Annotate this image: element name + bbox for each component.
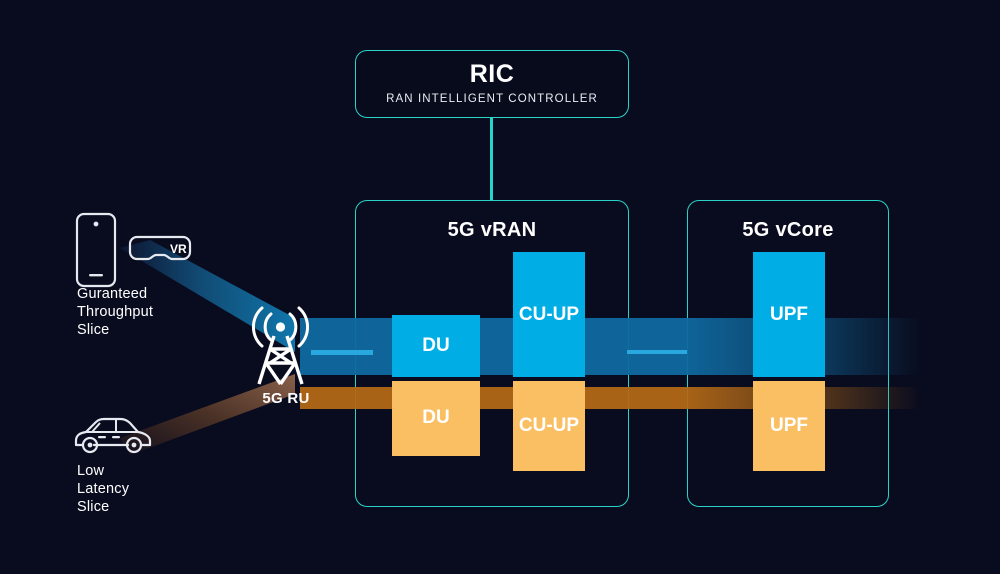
ric-subtitle: RAN INTELLIGENT CONTROLLER — [386, 94, 598, 106]
vran-cuup-block-orange[interactable]: CU-UP — [513, 381, 585, 471]
vcore-title: 5G vCore — [688, 219, 888, 242]
label-line-3: Slice — [77, 498, 207, 516]
ric-box[interactable]: RIC RAN INTELLIGENT CONTROLLER — [355, 50, 629, 118]
vcore-upf-block-orange[interactable]: UPF — [753, 381, 825, 471]
car-icon — [72, 413, 154, 457]
ric-title: RIC — [470, 62, 515, 87]
label-line-3: Slice — [77, 321, 207, 339]
block-label: UPF — [770, 304, 808, 326]
block-label: CU-UP — [519, 304, 579, 326]
vran-cuup-block-blue[interactable]: CU-UP — [513, 252, 585, 377]
vcore-upf-block-blue[interactable]: UPF — [753, 252, 825, 377]
label-line-1: Low — [77, 462, 207, 480]
label-line-1: Guranteed — [77, 285, 207, 303]
diagram-canvas: RIC RAN INTELLIGENT CONTROLLER 5G vRAN 5… — [0, 0, 1000, 574]
label-line-2: Throughput — [77, 303, 207, 321]
block-label: UPF — [770, 415, 808, 437]
ric-to-vran-connector — [490, 116, 493, 201]
block-label: CU-UP — [519, 415, 579, 437]
antenna-tower-icon — [243, 300, 318, 388]
vr-headset-icon: VR — [128, 228, 192, 268]
guaranteed-throughput-slice-label: Guranteed Throughput Slice — [77, 285, 207, 339]
radio-unit-label: 5G RU — [236, 390, 336, 407]
vran-du-block-orange[interactable]: DU — [392, 381, 480, 456]
vr-badge-text: VR — [170, 242, 187, 256]
smartphone-icon — [75, 212, 117, 288]
vran-title: 5G vRAN — [356, 219, 628, 242]
label-line-2: Latency — [77, 480, 207, 498]
block-label: DU — [422, 335, 449, 357]
block-label: DU — [422, 407, 449, 429]
vran-du-block-blue[interactable]: DU — [392, 315, 480, 377]
vran-to-vcore-connector — [627, 350, 687, 354]
low-latency-slice-label: Low Latency Slice — [77, 462, 207, 516]
guaranteed-throughput-slice-connector — [311, 350, 373, 355]
